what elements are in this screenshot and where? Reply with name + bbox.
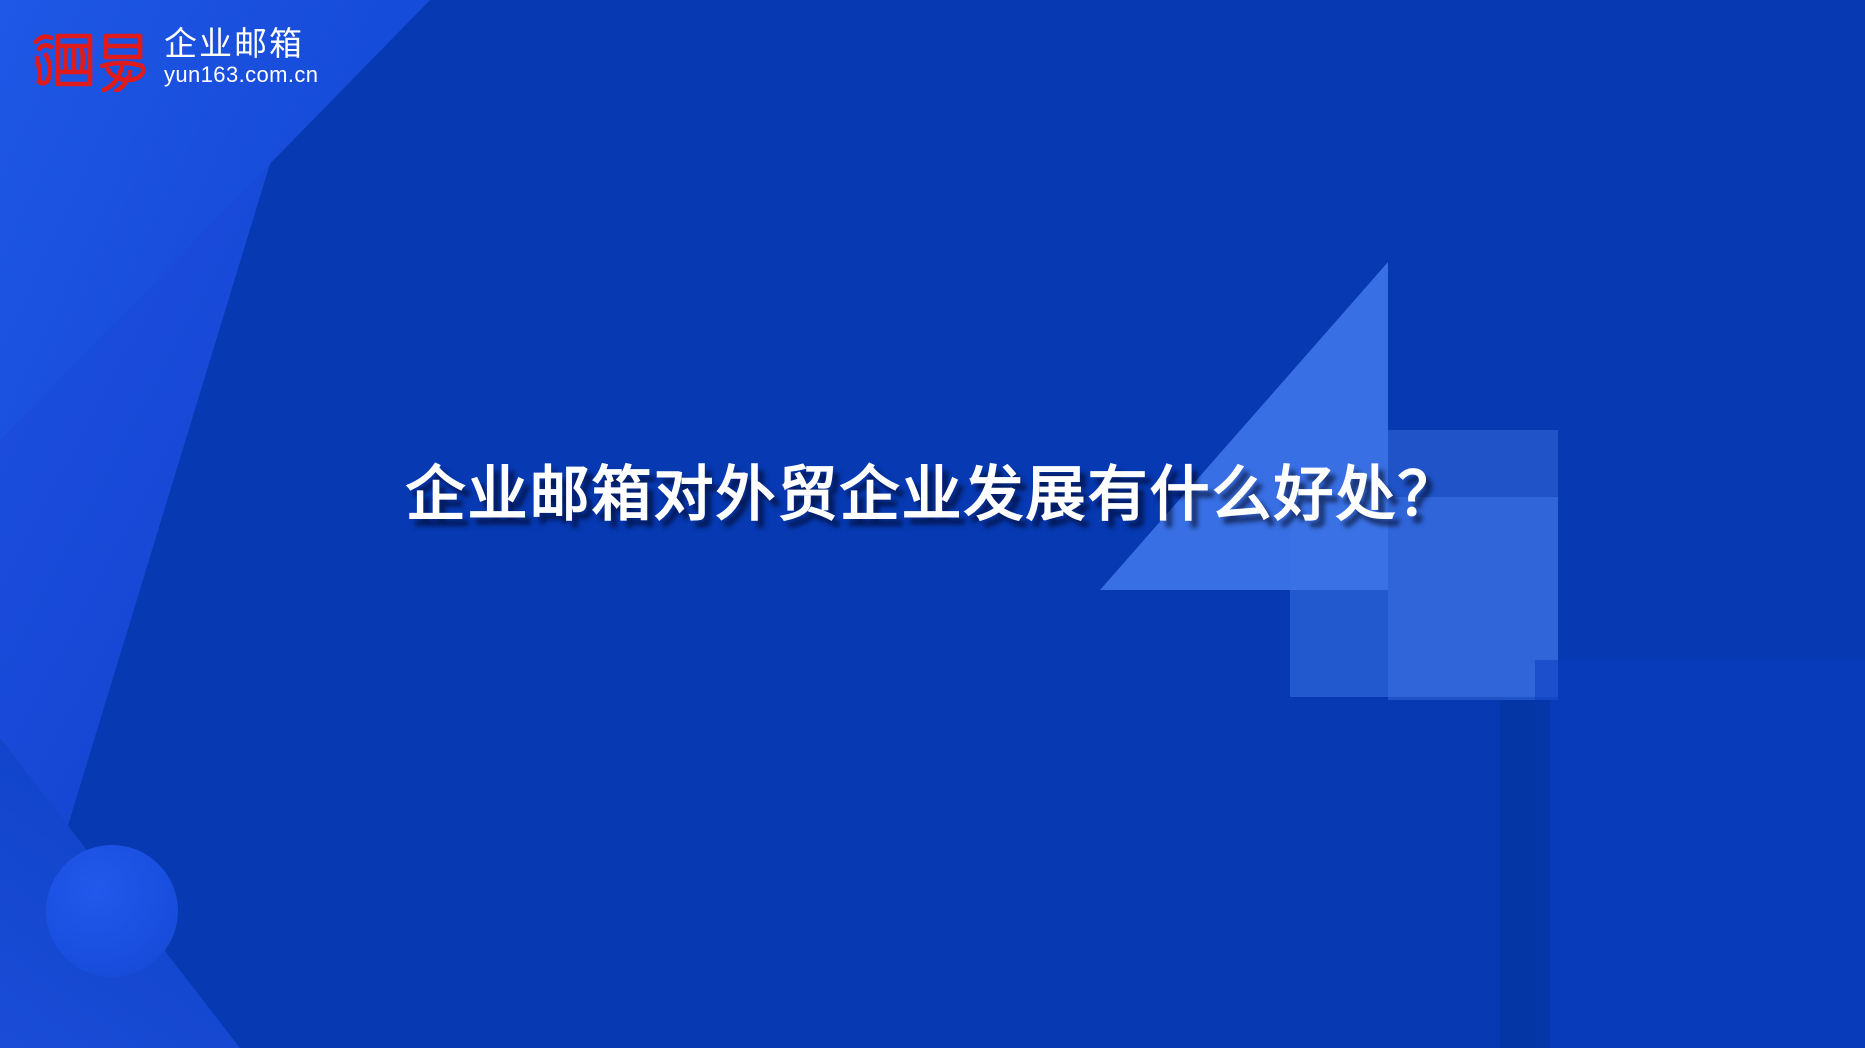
background-rectangle-accent-c	[1535, 660, 1865, 1048]
background-circle-bottom-left	[46, 845, 178, 977]
netease-wangyi-logo-icon	[30, 22, 158, 92]
page-title: 企业邮箱对外贸企业发展有什么好处？	[0, 455, 1865, 535]
slide-canvas: 企业邮箱 yun163.com.cn 企业邮箱对外贸企业发展有什么好处？	[0, 0, 1865, 1048]
brand-name-cn: 企业邮箱	[164, 26, 318, 62]
background-rectangle-accent-d	[1500, 700, 1550, 1048]
brand-logo-text: 企业邮箱 yun163.com.cn	[164, 22, 318, 87]
brand-logo[interactable]: 企业邮箱 yun163.com.cn	[30, 22, 318, 96]
brand-domain: yun163.com.cn	[164, 62, 318, 87]
